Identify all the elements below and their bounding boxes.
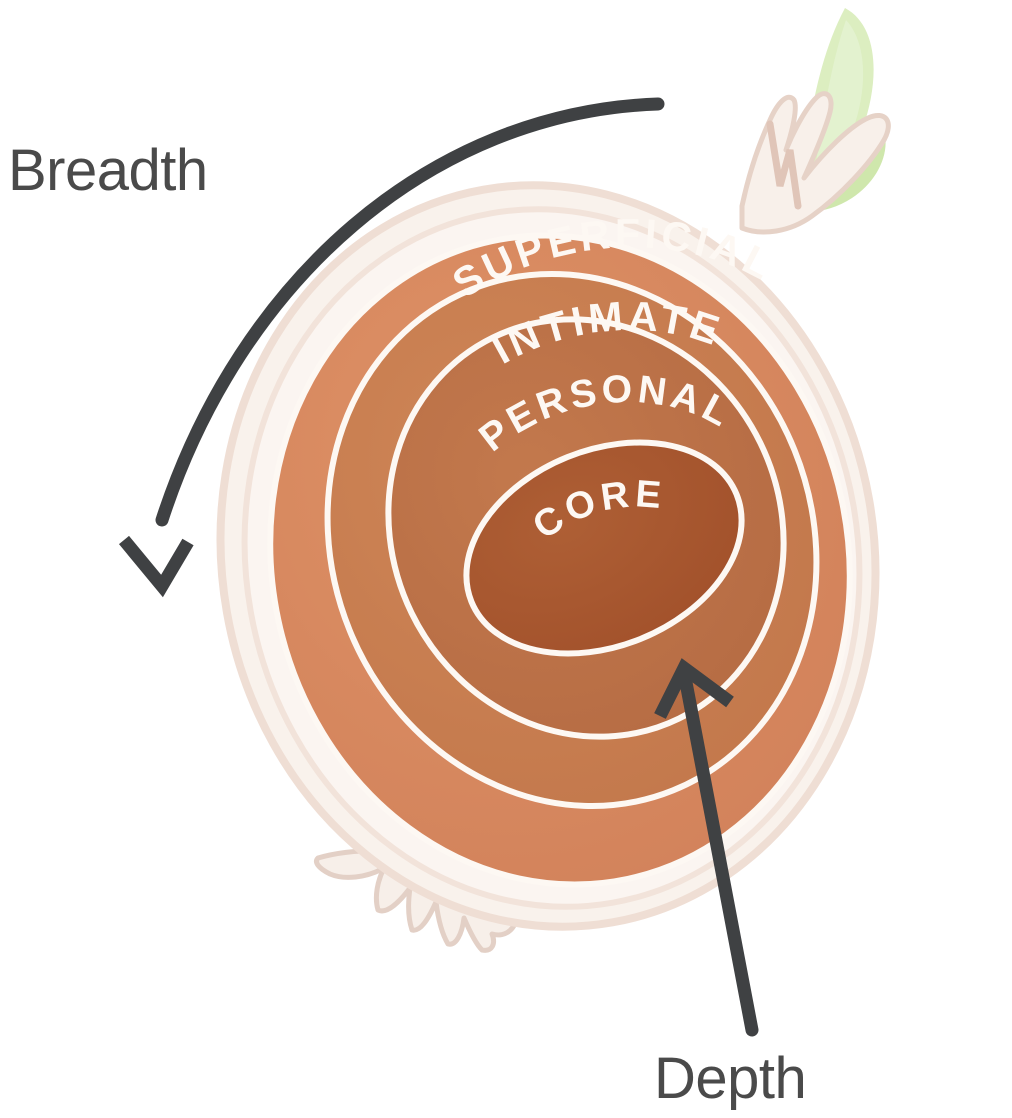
onion-illustration — [162, 8, 933, 979]
depth-label: Depth — [654, 1046, 806, 1111]
diagram-canvas: SUPERFICIAL INTIMATE PERSONAL CORE Bread… — [0, 0, 1012, 1118]
onion-diagram-svg: SUPERFICIAL INTIMATE PERSONAL CORE Bread… — [0, 0, 1012, 1118]
breadth-label: Breadth — [8, 138, 208, 203]
